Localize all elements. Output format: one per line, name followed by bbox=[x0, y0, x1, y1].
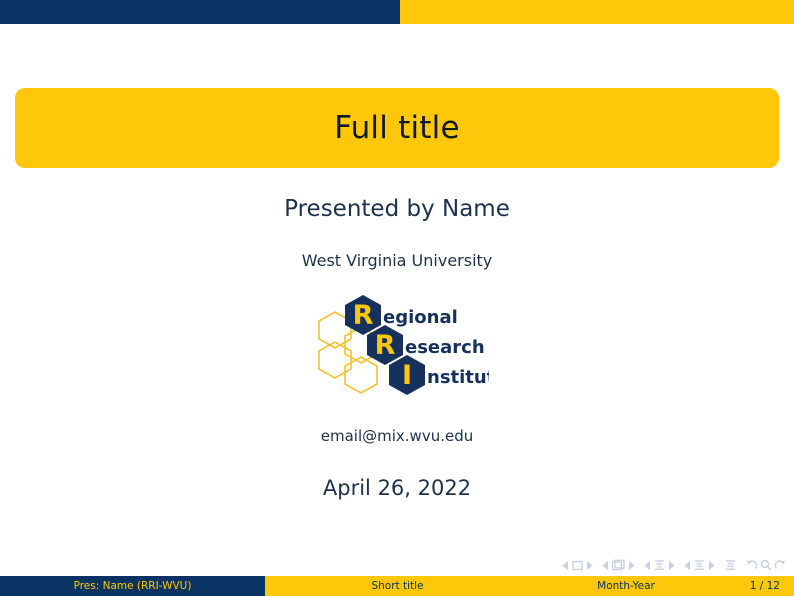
nav-group-frame[interactable] bbox=[602, 559, 635, 571]
section-next-icon[interactable] bbox=[708, 560, 715, 571]
search-icon[interactable] bbox=[760, 559, 772, 571]
doc-icon[interactable] bbox=[724, 559, 737, 571]
header-decoration-bar bbox=[0, 0, 794, 24]
subsection-icon[interactable] bbox=[653, 559, 666, 571]
page-title: Full title bbox=[334, 110, 459, 146]
beamer-navigation-symbols[interactable] bbox=[562, 556, 786, 574]
nav-group-subsection[interactable] bbox=[644, 559, 675, 571]
subsection-next-icon[interactable] bbox=[668, 560, 675, 571]
contact-email: email@mix.wvu.edu bbox=[0, 429, 794, 444]
section-prev-icon[interactable] bbox=[684, 560, 691, 571]
frame-prev-icon[interactable] bbox=[602, 560, 609, 571]
frame-next-icon[interactable] bbox=[628, 560, 635, 571]
rri-logo: R R I egional esearch nstitute bbox=[0, 291, 794, 407]
forward-icon[interactable] bbox=[774, 559, 786, 571]
logo-word-institute: nstitute bbox=[427, 367, 489, 388]
section-icon[interactable] bbox=[693, 559, 706, 571]
header-bar-navy bbox=[0, 0, 400, 24]
logo-letter-i: I bbox=[402, 360, 412, 391]
footer-page-number: 1 / 12 bbox=[722, 576, 794, 596]
logo-letter-r1: R bbox=[353, 300, 374, 331]
nav-group-slide[interactable] bbox=[562, 560, 593, 571]
nav-group-section[interactable] bbox=[684, 559, 715, 571]
frame-icon[interactable] bbox=[611, 559, 626, 571]
presentation-slide: Full title Presented by Name West Virgin… bbox=[0, 0, 794, 596]
nav-group-history[interactable] bbox=[746, 559, 786, 571]
header-bar-yellow bbox=[400, 0, 794, 24]
presentation-date: April 26, 2022 bbox=[0, 478, 794, 499]
slide-prev-icon[interactable] bbox=[562, 560, 569, 571]
logo-word-research: esearch bbox=[405, 337, 485, 358]
subsection-prev-icon[interactable] bbox=[644, 560, 651, 571]
slide-next-icon[interactable] bbox=[586, 560, 593, 571]
logo-word-regional: egional bbox=[383, 307, 458, 328]
footer-author: Pres: Name (RRI-WVU) bbox=[0, 576, 265, 596]
footer-date: Month-Year bbox=[530, 576, 722, 596]
logo-letter-r2: R bbox=[375, 330, 396, 361]
slide-footer: Pres: Name (RRI-WVU) Short title Month-Y… bbox=[0, 576, 794, 596]
rri-logo-icon: R R I egional esearch nstitute bbox=[305, 291, 489, 407]
presenter-name: Presented by Name bbox=[0, 198, 794, 221]
slide-icon[interactable] bbox=[571, 560, 584, 571]
title-banner: Full title bbox=[15, 88, 779, 168]
back-icon[interactable] bbox=[746, 559, 758, 571]
footer-short-title: Short title bbox=[265, 576, 530, 596]
title-slide-body: Presented by Name West Virginia Universi… bbox=[0, 190, 794, 499]
institution-name: West Virginia University bbox=[0, 253, 794, 269]
